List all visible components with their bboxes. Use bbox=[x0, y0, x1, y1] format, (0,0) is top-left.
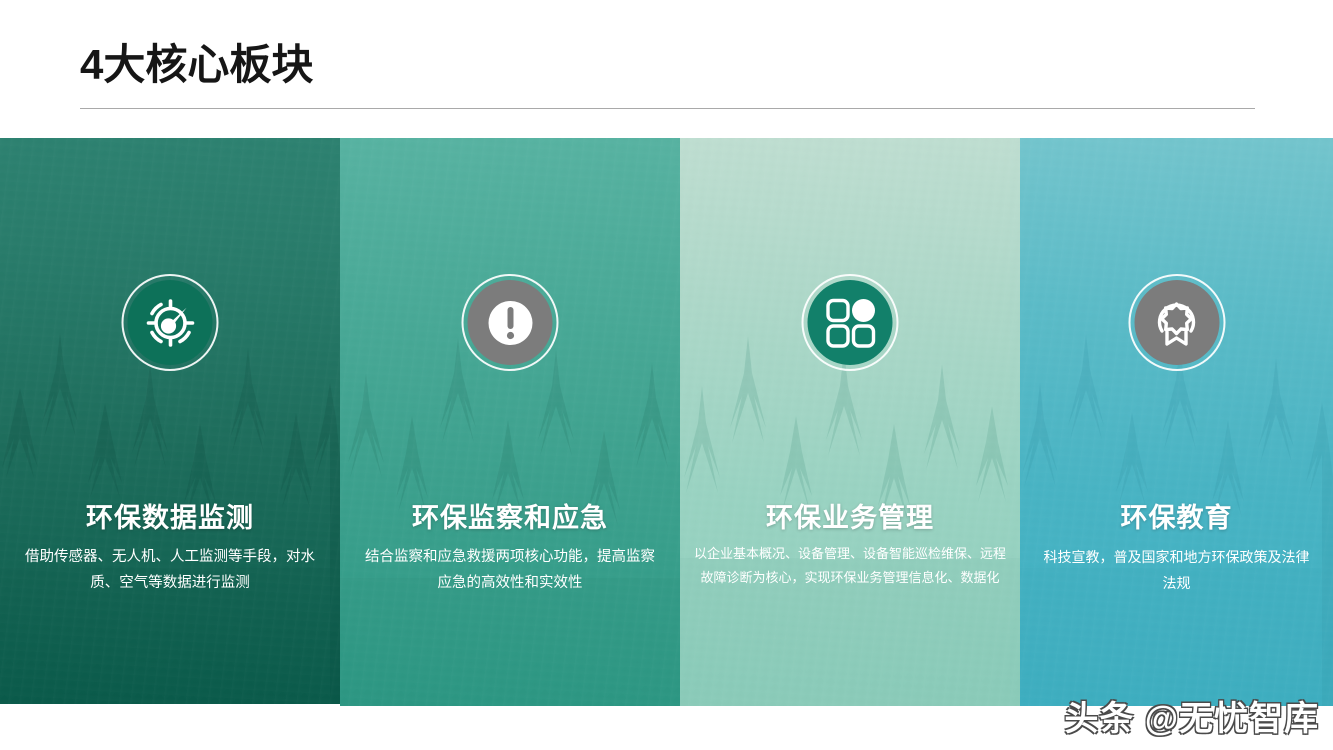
title-divider bbox=[80, 108, 1255, 109]
icon-medallion bbox=[462, 274, 559, 371]
panel-education[interactable]: 环保教育 科技宣教，普及国家和地方环保政策及法律法规 bbox=[1020, 138, 1333, 706]
compass-gauge-icon bbox=[142, 295, 198, 351]
panel-title: 环保业务管理 bbox=[680, 496, 1020, 535]
icon-medallion bbox=[1128, 274, 1225, 371]
panel-description: 结合监察和应急救援两项核心功能，提高监察应急的高效性和实效性 bbox=[340, 544, 680, 596]
alert-exclamation-icon bbox=[481, 294, 539, 352]
panel-inspection-emergency[interactable]: 环保监察和应急 结合监察和应急救援两项核心功能，提高监察应急的高效性和实效性 bbox=[340, 138, 680, 706]
icon-disc bbox=[1134, 280, 1219, 365]
panel-background bbox=[340, 138, 680, 706]
panel-background bbox=[0, 138, 340, 704]
panel-background bbox=[680, 138, 1020, 706]
icon-medallion bbox=[802, 274, 899, 371]
panel-description: 以企业基本概况、设备管理、设备智能巡检维保、远程故障诊断为核心，实现环保业务管理… bbox=[680, 542, 1020, 590]
panel-title: 环保数据监测 bbox=[0, 496, 340, 535]
grid-modules-icon bbox=[823, 296, 877, 350]
panel-title: 环保监察和应急 bbox=[340, 496, 680, 535]
icon-medallion bbox=[122, 274, 219, 371]
icon-disc bbox=[128, 280, 213, 365]
panel-background bbox=[1020, 138, 1333, 706]
panel-business-management[interactable]: 环保业务管理 以企业基本概况、设备管理、设备智能巡检维保、远程故障诊断为核心，实… bbox=[680, 138, 1020, 706]
panel-description: 科技宣教，普及国家和地方环保政策及法律法规 bbox=[1020, 544, 1333, 596]
icon-disc bbox=[468, 280, 553, 365]
feature-panels: 环保数据监测 借助传感器、无人机、人工监测等手段，对水质、空气等数据进行监测 bbox=[0, 138, 1333, 708]
panel-data-monitoring[interactable]: 环保数据监测 借助传感器、无人机、人工监测等手段，对水质、空气等数据进行监测 bbox=[0, 138, 340, 704]
page-title: 4大核心板块 bbox=[80, 44, 313, 86]
award-badge-icon bbox=[1149, 295, 1205, 351]
panel-title: 环保教育 bbox=[1020, 496, 1333, 535]
icon-disc bbox=[808, 280, 893, 365]
panel-description: 借助传感器、无人机、人工监测等手段，对水质、空气等数据进行监测 bbox=[0, 544, 340, 596]
slide-header: 4大核心板块 bbox=[0, 0, 1333, 138]
